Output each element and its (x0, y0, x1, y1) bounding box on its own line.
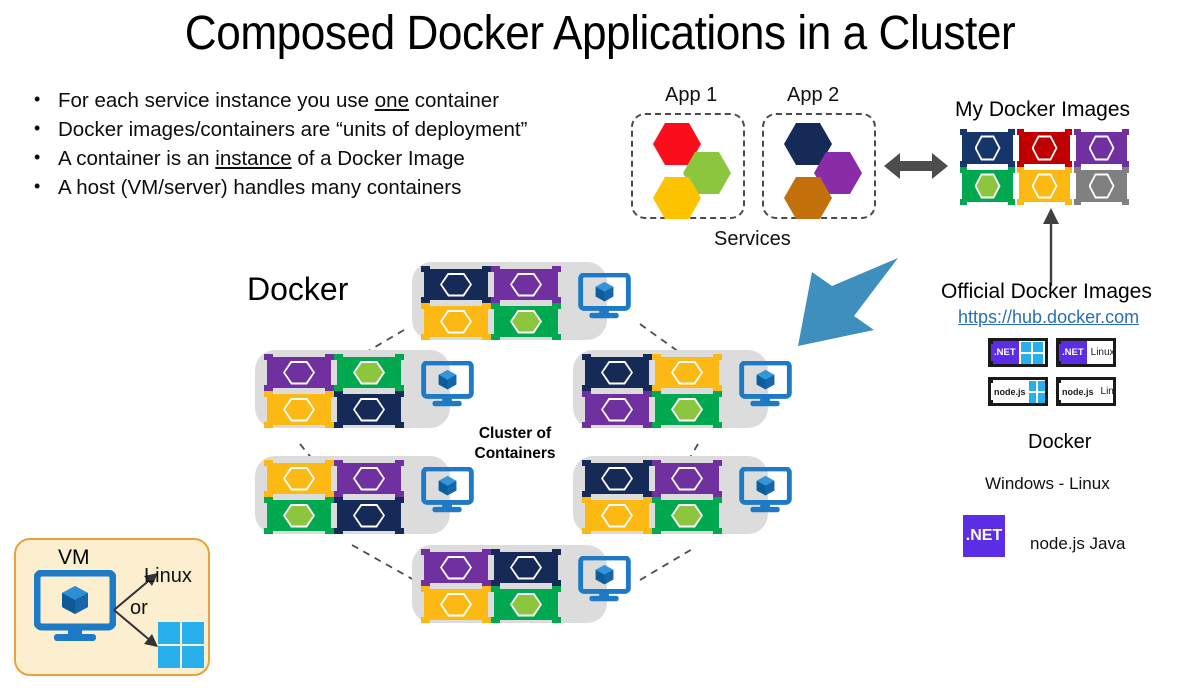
container-corner-tab (482, 586, 490, 592)
container-hexagon-fill (442, 558, 470, 578)
container-corner-tab (552, 334, 560, 340)
container-hexagon-fill (442, 275, 470, 295)
container-corner-tab (264, 354, 272, 360)
container-corner-tab (713, 391, 721, 397)
container-corner-tab (264, 497, 272, 503)
vm-label: VM (58, 546, 90, 570)
container-box-yellow (655, 357, 719, 388)
vm-or-label: or (130, 597, 148, 620)
container-corner-tab (643, 422, 651, 428)
container-corner-tab (713, 460, 721, 466)
container-box-purple (494, 269, 558, 300)
container-corner-tab (395, 422, 403, 428)
container-corner-tab (482, 266, 490, 272)
server-monitor-icon (578, 556, 631, 604)
vm-linux-label: Linux (144, 565, 192, 588)
vm-monitor-icon (34, 570, 116, 644)
cluster-caption-line2: Containers (460, 444, 570, 464)
container-corner-tab (491, 549, 499, 555)
container-corner-tab (491, 586, 499, 592)
container-corner-tab (395, 354, 403, 360)
container-corner-tab (325, 391, 333, 397)
container-corner-tab (713, 497, 721, 503)
container-hexagon-fill (512, 312, 540, 332)
container-corner-tab (395, 391, 403, 397)
container-hexagon-fill (673, 469, 701, 489)
container-box-green (655, 394, 719, 425)
container-hexagon-fill (285, 469, 313, 489)
container-corner-tab (552, 266, 560, 272)
container-box-navy (337, 394, 401, 425)
container-box-green (655, 500, 719, 531)
container-corner-tab (713, 354, 721, 360)
container-hexagon-fill (512, 275, 540, 295)
container-corner-tab (491, 266, 499, 272)
container-corner-tab (334, 528, 342, 534)
container-corner-tab (652, 391, 660, 397)
container-hexagon-fill (603, 363, 631, 383)
container-corner-tab (643, 354, 651, 360)
container-corner-tab (491, 617, 499, 623)
container-box-green (337, 357, 401, 388)
container-corner-tab (582, 391, 590, 397)
container-box-yellow (585, 500, 649, 531)
container-box-green (494, 306, 558, 337)
container-hexagon-fill (603, 400, 631, 420)
container-corner-tab (582, 497, 590, 503)
container-corner-tab (334, 497, 342, 503)
container-corner-tab (482, 334, 490, 340)
container-hexagon-fill (673, 363, 701, 383)
container-box-purple (655, 463, 719, 494)
container-hexagon-fill (512, 595, 540, 615)
container-hexagon-fill (673, 400, 701, 420)
container-corner-tab (264, 460, 272, 466)
container-corner-tab (334, 354, 342, 360)
container-hexagon-fill (355, 506, 383, 526)
container-corner-tab (582, 528, 590, 534)
container-corner-tab (325, 497, 333, 503)
container-corner-tab (421, 549, 429, 555)
container-corner-tab (334, 422, 342, 428)
container-hexagon-fill (442, 595, 470, 615)
container-box-purple (267, 357, 331, 388)
container-corner-tab (652, 422, 660, 428)
container-box-yellow (424, 589, 488, 620)
container-box-navy (337, 500, 401, 531)
container-box-purple (424, 552, 488, 583)
container-corner-tab (264, 391, 272, 397)
container-box-green (494, 589, 558, 620)
cluster-caption-line1: Cluster of (460, 424, 570, 444)
container-corner-tab (652, 528, 660, 534)
container-corner-tab (491, 303, 499, 309)
container-hexagon-fill (355, 469, 383, 489)
container-corner-tab (395, 460, 403, 466)
container-corner-tab (552, 303, 560, 309)
vm-box: VM Linux or (14, 538, 210, 676)
container-corner-tab (552, 549, 560, 555)
container-corner-tab (325, 422, 333, 428)
container-corner-tab (582, 422, 590, 428)
container-corner-tab (482, 549, 490, 555)
container-corner-tab (643, 460, 651, 466)
container-box-purple (585, 394, 649, 425)
container-hexagon-fill (673, 506, 701, 526)
container-corner-tab (643, 497, 651, 503)
container-box-yellow (424, 306, 488, 337)
container-box-navy (585, 463, 649, 494)
container-corner-tab (582, 460, 590, 466)
container-corner-tab (652, 354, 660, 360)
container-corner-tab (713, 528, 721, 534)
server-monitor-icon (739, 467, 792, 515)
container-corner-tab (325, 354, 333, 360)
container-hexagon-fill (285, 506, 313, 526)
container-corner-tab (421, 586, 429, 592)
windows-logo-icon (158, 622, 204, 668)
container-corner-tab (582, 354, 590, 360)
server-monitor-icon (421, 361, 474, 409)
container-corner-tab (552, 586, 560, 592)
container-corner-tab (325, 460, 333, 466)
container-hexagon-fill (355, 363, 383, 383)
cluster-caption: Cluster of Containers (460, 424, 570, 464)
container-corner-tab (421, 303, 429, 309)
container-hexagon-fill (285, 400, 313, 420)
container-box-navy (424, 269, 488, 300)
container-box-yellow (267, 394, 331, 425)
container-corner-tab (643, 391, 651, 397)
container-box-purple (337, 463, 401, 494)
container-corner-tab (482, 617, 490, 623)
container-box-navy (585, 357, 649, 388)
container-corner-tab (421, 617, 429, 623)
container-corner-tab (395, 497, 403, 503)
container-hexagon-fill (355, 400, 383, 420)
container-corner-tab (643, 528, 651, 534)
container-box-green (267, 500, 331, 531)
container-box-yellow (267, 463, 331, 494)
container-corner-tab (264, 422, 272, 428)
container-corner-tab (421, 334, 429, 340)
container-hexagon-fill (603, 469, 631, 489)
container-corner-tab (395, 528, 403, 534)
container-corner-tab (713, 422, 721, 428)
container-corner-tab (421, 266, 429, 272)
container-hexagon-fill (442, 312, 470, 332)
container-corner-tab (325, 528, 333, 534)
container-corner-tab (334, 391, 342, 397)
container-corner-tab (652, 497, 660, 503)
server-monitor-icon (578, 273, 631, 321)
container-corner-tab (491, 334, 499, 340)
container-corner-tab (334, 460, 342, 466)
container-corner-tab (482, 303, 490, 309)
container-corner-tab (652, 460, 660, 466)
container-hexagon-fill (512, 558, 540, 578)
server-monitor-icon (421, 467, 474, 515)
server-monitor-icon (739, 361, 792, 409)
container-corner-tab (264, 528, 272, 534)
container-corner-tab (552, 617, 560, 623)
container-hexagon-fill (603, 506, 631, 526)
container-hexagon-fill (285, 363, 313, 383)
container-box-navy (494, 552, 558, 583)
